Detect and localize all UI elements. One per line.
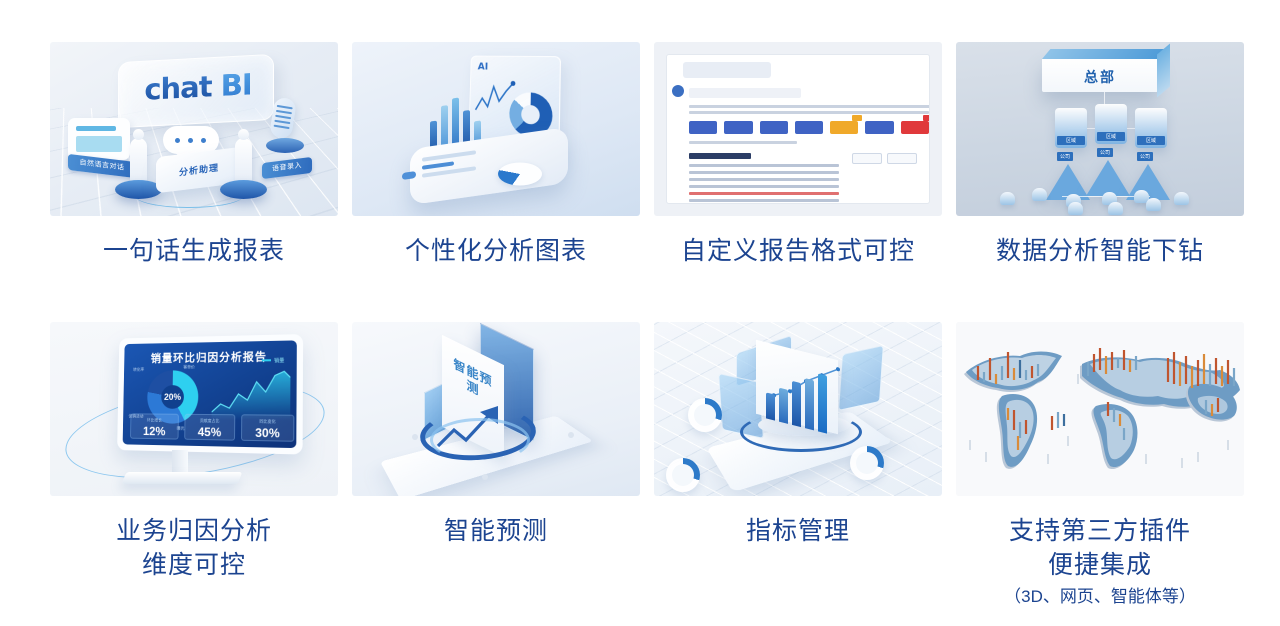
feature-caption-smart-drilldown: 数据分析智能下钻 [956, 234, 1244, 268]
caption-line: 数据分析智能下钻 [956, 234, 1244, 268]
logo-text-accent: BI [221, 67, 252, 103]
accent-ring [740, 412, 862, 452]
donut-label: 转化率 [133, 367, 144, 373]
report-ui-screenshot[interactable] [654, 42, 942, 216]
kpi-value: 12% [131, 424, 178, 439]
donut-label: 客单价 [183, 364, 195, 370]
tag-button[interactable] [865, 121, 893, 134]
caption-line: 个性化分析图表 [352, 234, 640, 268]
screw-dot [568, 432, 574, 438]
caption-line: 智能预测 [352, 514, 640, 548]
region-cylinder: 区域 [1135, 108, 1167, 148]
company-pyramid [1086, 160, 1130, 196]
level-label-region: 区域 [1137, 136, 1165, 145]
kpi-label: 贡献度占比 [185, 418, 234, 425]
kpi-tile: 同比变化 30% [241, 414, 294, 442]
caption-line: 一句话生成报表 [50, 234, 338, 268]
kpi-value: 45% [185, 425, 234, 440]
kpi-tile: 环比增长 12% [130, 413, 179, 439]
feature-card-personalized-charts[interactable]: AI [352, 42, 640, 268]
world-map-3d-bars[interactable] [956, 322, 1244, 496]
caption-line: 自定义报告格式可控 [654, 234, 942, 268]
assistant-avatar [672, 85, 684, 97]
feature-caption-smart-forecast: 智能预测 [352, 514, 640, 548]
pedestal-right [220, 180, 267, 199]
feature-grid-row-2: 销量环比归因分析报告 转化率 客单价 促销活动 曝光 20% 销量 [50, 322, 1240, 612]
feature-caption-personalized-charts: 个性化分析图表 [352, 234, 640, 268]
monitor-base [122, 472, 243, 484]
accent-ring-inner [430, 418, 530, 462]
microphone-base [266, 138, 304, 153]
org-hierarchy-drilldown-illustration[interactable]: 总部 区域 区域 区域 公司 公司 公司 [956, 42, 1244, 216]
caption-subtitle: （3D、网页、智能体等） [956, 582, 1244, 612]
caption-line: 便捷集成 [956, 548, 1244, 582]
feature-caption-metric-management: 指标管理 [654, 514, 942, 548]
dashboard-title: 销量环比归因分析报告 [124, 348, 297, 367]
feature-card-custom-report-format[interactable]: 自定义报告格式可控 [654, 42, 942, 268]
export-button[interactable] [852, 153, 882, 164]
region-cylinder: 区域 [1095, 104, 1127, 144]
department-node [1000, 192, 1015, 205]
chart-legend: 销量 [274, 357, 284, 364]
feature-card-third-party-plugins[interactable]: 支持第三方插件 便捷集成 （3D、网页、智能体等） [956, 322, 1244, 612]
toolbar-buttons[interactable] [852, 153, 917, 164]
ai-device-charts-illustration[interactable]: AI [352, 42, 640, 216]
tag-button[interactable] [689, 121, 717, 134]
person-figure-right [235, 138, 252, 182]
chat-bi-logo: chat BI [134, 67, 262, 108]
metric-management-illustration[interactable] [654, 322, 942, 496]
feature-caption-third-party-plugins: 支持第三方插件 便捷集成 （3D、网页、智能体等） [956, 514, 1244, 612]
feature-caption-business-attribution: 业务归因分析 维度可控 [50, 514, 338, 582]
screw-dot [482, 474, 488, 480]
window-title-placeholder [683, 62, 771, 78]
department-node [1108, 202, 1123, 215]
headquarters-block: 总部 [1042, 58, 1158, 92]
person-figure-left [130, 138, 147, 182]
section-heading-1 [689, 153, 751, 159]
attribution-dashboard-monitor[interactable]: 销量环比归因分析报告 转化率 客单价 促销活动 曝光 20% 销量 [50, 322, 338, 496]
kpi-label: 环比增长 [131, 417, 178, 423]
tag-button[interactable] [795, 121, 823, 134]
donut-center-value: 20% [147, 392, 198, 402]
answer-paragraph [689, 105, 929, 114]
tag-button-danger[interactable] [901, 121, 929, 134]
screw-dot [412, 434, 418, 440]
gauge-dial-icon [688, 398, 722, 432]
report-window [666, 54, 930, 204]
feature-card-metric-management[interactable]: 指标管理 [654, 322, 942, 612]
logo-text: chat [144, 69, 211, 107]
save-button[interactable] [887, 153, 917, 164]
caption-line: 维度可控 [50, 548, 338, 582]
world-map-3d-svg [956, 322, 1244, 496]
kpi-value: 30% [242, 425, 293, 440]
tag-button-warning[interactable] [830, 121, 858, 134]
level-label-region: 区域 [1097, 132, 1125, 141]
tag-button[interactable] [724, 121, 752, 134]
level-label-headquarters: 总部 [1042, 67, 1158, 87]
section-hint [689, 141, 929, 144]
level-label-company: 公司 [1097, 148, 1113, 157]
pie-chart-3d [498, 163, 542, 186]
ai-badge: AI [478, 61, 489, 72]
caption-line: 业务归因分析 [50, 514, 338, 548]
department-node [1068, 202, 1083, 215]
caption-line: 支持第三方插件 [956, 514, 1244, 548]
caption-line: 指标管理 [654, 514, 942, 548]
tag-button[interactable] [760, 121, 788, 134]
department-node [1032, 188, 1047, 201]
level-label-company: 公司 [1137, 152, 1153, 161]
chat-bi-illustration[interactable]: chat BI 自然语言对话 分析助理 语音录入 [50, 42, 338, 216]
dashboard-screen: 销量环比归因分析报告 转化率 客单价 促销活动 曝光 20% 销量 [123, 340, 297, 448]
gauge-dial-icon [850, 446, 884, 480]
feature-card-one-sentence-report[interactable]: chat BI 自然语言对话 分析助理 语音录入 [50, 42, 338, 268]
kpi-tile: 贡献度占比 45% [184, 414, 235, 441]
area-chart [212, 367, 291, 421]
feature-card-smart-drilldown[interactable]: 总部 区域 区域 区域 公司 公司 公司 [956, 42, 1244, 268]
region-cylinder: 区域 [1055, 108, 1087, 148]
mini-card [68, 118, 130, 160]
feature-caption-custom-report-format: 自定义报告格式可控 [654, 234, 942, 268]
department-node [1146, 198, 1161, 211]
pedestal-left [115, 180, 162, 199]
feature-caption-one-sentence-report: 一句话生成报表 [50, 234, 338, 268]
smart-forecast-illustration[interactable]: 智能预测 [352, 322, 640, 496]
level-label-company: 公司 [1057, 152, 1073, 161]
feature-grid-row-1: chat BI 自然语言对话 分析助理 语音录入 [50, 42, 1240, 268]
feature-card-smart-forecast[interactable]: 智能预测 智能预测 [352, 322, 640, 612]
feature-grid-page: chat BI 自然语言对话 分析助理 语音录入 [0, 0, 1280, 626]
level-label-region: 区域 [1057, 136, 1085, 145]
feature-card-business-attribution[interactable]: 销量环比归因分析报告 转化率 客单价 促销活动 曝光 20% 销量 [50, 322, 338, 612]
monitor-frame: 销量环比归因分析报告 转化率 客单价 促销活动 曝光 20% 销量 [117, 334, 303, 454]
kpi-label: 同比变化 [242, 418, 293, 425]
conclusion-list-1 [689, 164, 929, 204]
gauge-dial-icon [666, 458, 700, 492]
department-node [1174, 192, 1189, 205]
tag-button-row[interactable] [689, 121, 929, 134]
question-input-placeholder [689, 88, 801, 98]
label-analysis-assistant: 分析助理 [156, 158, 242, 182]
